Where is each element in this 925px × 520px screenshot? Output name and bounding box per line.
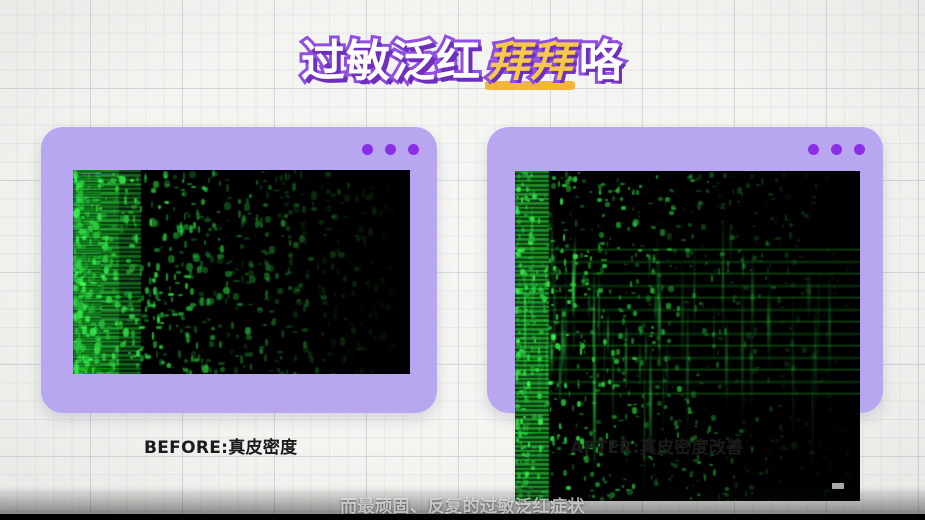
- scan-speck: [160, 322, 164, 324]
- scan-speck: [202, 267, 208, 273]
- scan-speck: [815, 286, 819, 289]
- scan-speck: [319, 220, 324, 225]
- scan-speck: [550, 350, 553, 351]
- scan-speck: [706, 366, 710, 367]
- scan-speck: [191, 186, 196, 189]
- scan-speck: [227, 197, 233, 199]
- scan-speck: [132, 339, 135, 346]
- dot-icon: [385, 144, 396, 155]
- scan-speck: [821, 273, 822, 279]
- scan-speck: [111, 225, 117, 228]
- scan-speck: [355, 267, 361, 271]
- scan-speck: [332, 347, 334, 351]
- scan-speck: [750, 294, 755, 299]
- scan-speck: [604, 481, 607, 483]
- scan-speck: [110, 258, 113, 265]
- scan-speck: [632, 243, 635, 246]
- scan-speck: [77, 372, 83, 374]
- scan-speck: [368, 329, 373, 336]
- scan-speck: [296, 249, 300, 251]
- scan-speck: [77, 264, 83, 270]
- scan-speck: [102, 257, 108, 263]
- scan-speck: [782, 319, 785, 325]
- scan-speck: [521, 408, 526, 410]
- scan-speck: [798, 256, 803, 258]
- scan-speck: [730, 176, 732, 178]
- scan-speck: [831, 252, 835, 257]
- scan-speck: [326, 200, 330, 202]
- scan-speck: [721, 262, 722, 266]
- scan-speck: [272, 318, 277, 326]
- scan-speck: [832, 197, 833, 202]
- scan-speck: [361, 368, 365, 374]
- scan-speck: [227, 332, 230, 339]
- scan-speck: [808, 440, 811, 443]
- scan-speck: [359, 323, 363, 326]
- scan-speck: [332, 214, 338, 220]
- scan-speck: [529, 487, 530, 489]
- scan-speck: [638, 216, 640, 217]
- scan-speck: [596, 420, 601, 425]
- scan-speck: [699, 383, 704, 384]
- scan-speck: [129, 244, 135, 248]
- scan-speck: [548, 212, 552, 217]
- scan-speck: [670, 416, 673, 421]
- scan-speck: [173, 175, 177, 180]
- scan-speck: [717, 313, 720, 315]
- title-accent-group: 拜拜: [487, 35, 573, 89]
- scan-speck: [307, 270, 309, 271]
- scan-speck: [789, 232, 792, 239]
- scan-speck: [804, 278, 810, 280]
- scan-speck: [98, 260, 101, 265]
- scan-speck: [557, 301, 558, 304]
- scan-speck: [240, 355, 243, 364]
- scan-speck: [767, 267, 770, 274]
- scan-speck: [543, 308, 546, 313]
- scan-speck: [131, 330, 135, 338]
- scan-speck: [636, 279, 639, 284]
- scan-speck: [662, 427, 663, 431]
- scan-speck: [154, 220, 160, 227]
- scan-speck: [584, 427, 588, 429]
- scan-speck: [551, 390, 552, 392]
- scan-speck: [113, 199, 119, 201]
- scan-speck: [612, 415, 617, 419]
- scan-speck: [623, 339, 627, 340]
- scan-speck: [82, 216, 84, 219]
- scan-speck: [561, 177, 563, 179]
- scan-speck: [136, 363, 139, 368]
- scan-speck: [389, 367, 391, 369]
- scan-speck: [844, 190, 845, 195]
- scan-speck: [519, 263, 522, 268]
- scan-speck: [564, 437, 567, 443]
- scan-speck: [231, 322, 234, 329]
- scan-speck: [668, 286, 673, 292]
- scan-speck: [667, 394, 671, 397]
- scan-speck: [185, 332, 188, 337]
- scan-speck: [84, 212, 90, 215]
- scan-speck: [362, 189, 366, 198]
- scan-speck: [730, 281, 733, 285]
- scan-speck: [597, 198, 602, 203]
- scan-speck: [658, 197, 663, 202]
- scan-speck: [342, 230, 346, 233]
- scan-speck: [666, 303, 671, 309]
- scan-speck: [557, 447, 561, 450]
- scan-speck: [734, 482, 738, 488]
- scan-speck: [551, 288, 554, 294]
- scan-speck: [769, 406, 773, 412]
- scan-speck: [733, 295, 737, 298]
- scan-speck: [600, 242, 605, 245]
- scan-speck: [129, 314, 135, 319]
- scan-speck: [570, 211, 571, 216]
- scan-speck: [112, 173, 115, 176]
- scan-speck: [632, 357, 637, 360]
- scan-speck: [120, 216, 122, 222]
- scan-speck: [768, 193, 773, 196]
- scan-speck: [597, 463, 600, 467]
- scan-speck: [617, 385, 620, 388]
- scan-speck: [209, 341, 214, 347]
- scan-speck: [580, 205, 584, 209]
- scan-speck: [632, 407, 637, 414]
- scan-speck: [626, 459, 629, 460]
- scan-speck: [554, 321, 558, 324]
- scan-speck: [561, 222, 565, 223]
- scan-speck: [211, 327, 215, 330]
- scan-speck: [226, 263, 230, 264]
- scan-speck: [654, 483, 659, 485]
- scan-speck: [112, 356, 118, 360]
- scan-speck: [836, 421, 838, 427]
- scan-speck: [197, 217, 199, 220]
- scan-speck: [639, 185, 642, 188]
- scan-speck: [298, 283, 303, 288]
- scan-speck: [123, 307, 129, 310]
- scan-speck: [154, 272, 159, 278]
- scan-speck: [293, 311, 299, 318]
- title-accent-text: 拜拜: [487, 35, 573, 89]
- scan-speck: [564, 383, 567, 389]
- scan-speck: [563, 470, 567, 476]
- scan-speck: [292, 183, 296, 191]
- scan-speck: [335, 307, 337, 311]
- scan-speck: [138, 369, 139, 374]
- scan-speck: [787, 219, 791, 221]
- scan-speck: [532, 194, 537, 199]
- scan-speck: [686, 253, 690, 259]
- scan-speck: [325, 172, 331, 177]
- scan-speck: [802, 350, 807, 353]
- scan-speck: [524, 418, 527, 419]
- scan-speck: [138, 272, 139, 273]
- scan-speck: [590, 191, 592, 194]
- scan-speck: [736, 235, 738, 239]
- scan-speck: [698, 201, 703, 205]
- scan-speck: [799, 302, 801, 308]
- scan-speck: [202, 365, 208, 373]
- scan-speck: [199, 207, 200, 208]
- scan-speck: [600, 267, 604, 274]
- dot-icon: [854, 144, 865, 155]
- scan-speck: [264, 354, 268, 362]
- scan-speck: [87, 270, 91, 274]
- scan-speck: [527, 354, 530, 361]
- scan-speck: [90, 282, 97, 284]
- scan-speck: [572, 405, 574, 411]
- scan-speck: [557, 434, 561, 437]
- scan-speck: [310, 357, 314, 364]
- scan-speck: [344, 216, 348, 219]
- scan-speck: [191, 203, 197, 206]
- scan-speck: [522, 453, 525, 456]
- scan-speck: [776, 228, 781, 229]
- scan-speck: [550, 407, 552, 413]
- scan-speck: [343, 355, 346, 363]
- scan-speck: [556, 314, 558, 320]
- scan-speck: [548, 326, 552, 330]
- scan-speck: [622, 318, 625, 325]
- scan-speck: [106, 332, 110, 340]
- scan-speck: [692, 485, 694, 486]
- scan-speck: [695, 425, 697, 428]
- scan-speck: [784, 252, 789, 259]
- scan-speck: [263, 324, 268, 326]
- scan-speck: [73, 257, 78, 264]
- scan-speck: [518, 437, 523, 439]
- scan-speck: [518, 323, 519, 326]
- scan-speck: [190, 288, 194, 295]
- scan-speck: [254, 235, 255, 237]
- scan-speck: [697, 461, 701, 464]
- scan-speck: [97, 213, 103, 221]
- scan-speck: [515, 450, 517, 452]
- scan-speck: [91, 204, 93, 207]
- scan-speck: [369, 313, 373, 318]
- scan-speck: [537, 357, 541, 361]
- scan-speck: [218, 362, 225, 365]
- scan-speck: [687, 400, 689, 404]
- scan-speck: [780, 320, 781, 325]
- scan-speck: [274, 360, 279, 362]
- scan-speck: [313, 173, 316, 174]
- scan-speck: [161, 246, 162, 249]
- scan-speck: [523, 385, 526, 388]
- scan-speck: [748, 285, 750, 291]
- scan-speck: [90, 328, 96, 336]
- scan-speck: [712, 186, 717, 188]
- scan-speck: [686, 487, 688, 489]
- scan-speck: [175, 282, 181, 284]
- scan-speck: [532, 333, 534, 334]
- scan-speck: [184, 213, 186, 220]
- scan-speck: [781, 374, 785, 378]
- scan-speck: [289, 240, 291, 245]
- scan-speck: [516, 257, 517, 259]
- scan-speck: [539, 427, 541, 432]
- scan-speck: [821, 457, 826, 459]
- scan-speck: [552, 176, 556, 180]
- scan-speck: [770, 217, 775, 221]
- scan-speck: [347, 350, 349, 357]
- scan-speck: [646, 402, 651, 406]
- scan-speck: [745, 398, 746, 402]
- scan-speck: [574, 176, 577, 182]
- scan-speck: [655, 393, 658, 396]
- scan-speck: [99, 207, 102, 211]
- scan-speck: [767, 377, 770, 383]
- scan-speck: [259, 348, 264, 354]
- scan-speck: [689, 357, 691, 361]
- scan-speck: [186, 306, 193, 311]
- scan-speck: [782, 384, 784, 386]
- scan-speck: [627, 227, 630, 231]
- scan-speck: [826, 282, 827, 284]
- scan-speck: [179, 251, 184, 254]
- scan-speck: [632, 207, 635, 211]
- scan-speck: [181, 316, 185, 320]
- scan-speck: [674, 420, 677, 425]
- scan-speck: [623, 379, 625, 381]
- scan-speck: [337, 189, 341, 194]
- scan-speck: [702, 328, 707, 334]
- scan-speck: [141, 346, 144, 349]
- scan-speck: [326, 189, 329, 194]
- scan-speck: [816, 472, 819, 475]
- scan-speck: [198, 298, 201, 305]
- scan-speck: [714, 269, 718, 272]
- scan-speck: [620, 183, 625, 185]
- scan-speck: [174, 274, 176, 281]
- scan-speck: [751, 174, 753, 179]
- scan-speck: [515, 423, 520, 430]
- scan-speck: [656, 336, 660, 341]
- scan-speck: [108, 200, 111, 202]
- scan-speck: [533, 275, 535, 281]
- scan-speck: [789, 223, 794, 227]
- scan-speck: [652, 349, 655, 352]
- scan-speck: [175, 265, 179, 268]
- scan-speck: [563, 234, 565, 241]
- scan-speck: [554, 398, 557, 400]
- scan-speck: [566, 486, 570, 490]
- scan-speck: [551, 472, 553, 476]
- scan-speck: [519, 390, 522, 393]
- scan-speck: [99, 320, 105, 328]
- scan-speck: [341, 202, 342, 205]
- scan-speck: [765, 276, 767, 280]
- scan-speck: [565, 266, 567, 273]
- scan-speck: [820, 288, 823, 289]
- scan-speck: [771, 286, 776, 288]
- scan-speck: [84, 262, 88, 269]
- scan-speck: [128, 352, 131, 354]
- scan-speck: [718, 268, 720, 275]
- scan-speck: [570, 283, 575, 286]
- scan-speck: [675, 427, 679, 430]
- scan-speck: [727, 261, 729, 268]
- scan-speck: [218, 324, 223, 328]
- scan-speck: [235, 355, 239, 357]
- scan-speck: [136, 184, 141, 185]
- scan-speck: [329, 359, 331, 362]
- scan-speck: [83, 305, 89, 307]
- scan-speck: [741, 421, 746, 424]
- scan-speck: [190, 370, 192, 374]
- scan-speck: [796, 316, 800, 323]
- scan-speck: [560, 198, 563, 205]
- scan-speckle-layer: [73, 170, 410, 374]
- scan-speck: [343, 247, 345, 249]
- scan-speck: [193, 222, 195, 229]
- scan-speck: [214, 369, 218, 374]
- scan-speck: [611, 350, 615, 357]
- scan-speck: [791, 282, 796, 288]
- scan-speck: [284, 191, 289, 194]
- scan-speck: [667, 248, 672, 251]
- scan-speck: [569, 391, 571, 397]
- scan-speck: [285, 173, 287, 181]
- scan-speck: [551, 452, 555, 453]
- scan-speck: [207, 318, 211, 321]
- scan-speck: [649, 303, 650, 306]
- scan-speck: [105, 198, 107, 201]
- scan-speck: [334, 292, 335, 295]
- scan-speck: [374, 311, 377, 319]
- scan-speck: [833, 286, 838, 289]
- scan-speck: [631, 292, 636, 294]
- scan-speck: [538, 319, 539, 323]
- scan-speck: [182, 192, 184, 196]
- scan-speck: [531, 466, 535, 470]
- scan-speck: [709, 172, 714, 178]
- scan-speck: [544, 282, 547, 289]
- scan-speck: [220, 227, 221, 231]
- scan-speck: [210, 335, 215, 340]
- scan-speck: [244, 352, 249, 356]
- scan-speck: [266, 191, 269, 198]
- scan-speck: [667, 339, 671, 343]
- scan-speck: [87, 349, 91, 353]
- scan-speck: [582, 179, 586, 183]
- scan-speck: [632, 484, 634, 488]
- scan-speck: [826, 380, 827, 385]
- scan-speck: [73, 212, 78, 215]
- scan-speck: [136, 177, 140, 182]
- scan-speck: [779, 405, 782, 407]
- scan-speck: [687, 176, 692, 180]
- scan-speck: [561, 399, 566, 406]
- scan-speck: [115, 264, 118, 266]
- scan-speck: [265, 290, 268, 298]
- scan-speck: [618, 420, 623, 421]
- scan-speck: [351, 290, 356, 297]
- scan-speck: [591, 229, 593, 231]
- scan-speck: [334, 312, 337, 320]
- scan-speck: [627, 404, 632, 406]
- scan-speck: [539, 199, 544, 202]
- scan-speck: [217, 211, 220, 214]
- scan-speck: [642, 194, 643, 195]
- scan-speck: [576, 331, 579, 333]
- scan-speck: [832, 275, 834, 281]
- scan-speck: [98, 285, 104, 287]
- scan-speck: [379, 211, 383, 218]
- scan-speck: [768, 281, 770, 282]
